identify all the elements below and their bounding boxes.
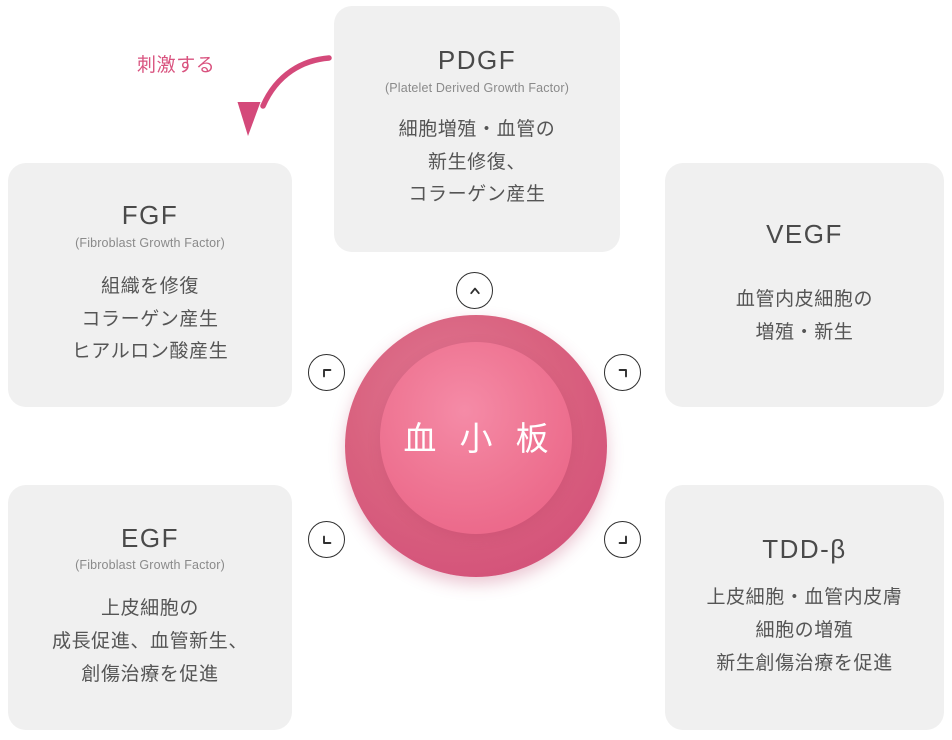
card-pdgf: PDGF (Platelet Derived Growth Factor) 細胞… (334, 6, 620, 252)
chevron-up-left-icon (308, 354, 345, 391)
card-fgf-body-line: ヒアルロン酸産生 (72, 336, 229, 369)
card-fgf-subtitle: (Fibroblast Growth Factor) (75, 236, 225, 251)
card-tddb-body: 上皮細胞・血管内皮膚 細胞の増殖 新生創傷治療を促進 (706, 582, 902, 680)
chevron-down-right-icon (604, 521, 641, 558)
platelet-circle: 血 小 板 (380, 342, 572, 534)
card-pdgf-body: 細胞増殖・血管の 新生修復、 コラーゲン産生 (399, 114, 556, 212)
diagram-canvas: 刺激する PDGF (Platelet Derived Growth Facto… (0, 0, 952, 740)
card-vegf-body-line: 増殖・新生 (736, 317, 873, 350)
card-egf-body: 上皮細胞の 成長促進、血管新生、 創傷治療を促進 (52, 593, 248, 691)
card-vegf-title: VEGF (766, 220, 843, 250)
card-pdgf-subtitle: (Platelet Derived Growth Factor) (385, 81, 569, 96)
card-fgf-title: FGF (122, 201, 179, 231)
card-vegf: VEGF 血管内皮細胞の 増殖・新生 (665, 163, 944, 407)
card-fgf-body: 組織を修復 コラーゲン産生 ヒアルロン酸産生 (72, 271, 229, 369)
card-tddb-body-line: 細胞の増殖 (706, 615, 902, 648)
card-tddb-body-line: 上皮細胞・血管内皮膚 (706, 582, 902, 615)
card-egf-body-line: 創傷治療を促進 (52, 659, 248, 692)
card-tddb-title: TDD-β (762, 535, 847, 565)
card-fgf-body-line: コラーゲン産生 (72, 304, 229, 337)
card-tddb: TDD-β 上皮細胞・血管内皮膚 細胞の増殖 新生創傷治療を促進 (665, 485, 944, 730)
card-fgf: FGF (Fibroblast Growth Factor) 組織を修復 コラー… (8, 163, 292, 407)
card-vegf-body-line: 血管内皮細胞の (736, 284, 873, 317)
card-egf: EGF (Fibroblast Growth Factor) 上皮細胞の 成長促… (8, 485, 292, 730)
card-fgf-body-line: 組織を修復 (72, 271, 229, 304)
card-pdgf-body-line: 新生修復、 (399, 147, 556, 180)
card-pdgf-body-line: 細胞増殖・血管の (399, 114, 556, 147)
card-pdgf-body-line: コラーゲン産生 (399, 179, 556, 212)
card-egf-title: EGF (121, 524, 179, 554)
curved-arrow-down-icon (215, 48, 335, 148)
card-tddb-body-line: 新生創傷治療を促進 (706, 648, 902, 681)
card-egf-body-line: 上皮細胞の (52, 593, 248, 626)
card-egf-body-line: 成長促進、血管新生、 (52, 626, 248, 659)
chevron-down-left-icon (308, 521, 345, 558)
chevron-up-right-icon (604, 354, 641, 391)
card-pdgf-title: PDGF (438, 46, 516, 76)
card-vegf-body: 血管内皮細胞の 増殖・新生 (736, 284, 873, 349)
card-egf-subtitle: (Fibroblast Growth Factor) (75, 558, 225, 573)
stimulate-annotation-label: 刺激する (137, 50, 215, 77)
chevron-up-icon (456, 272, 493, 309)
platelet-label: 血 小 板 (396, 422, 555, 455)
